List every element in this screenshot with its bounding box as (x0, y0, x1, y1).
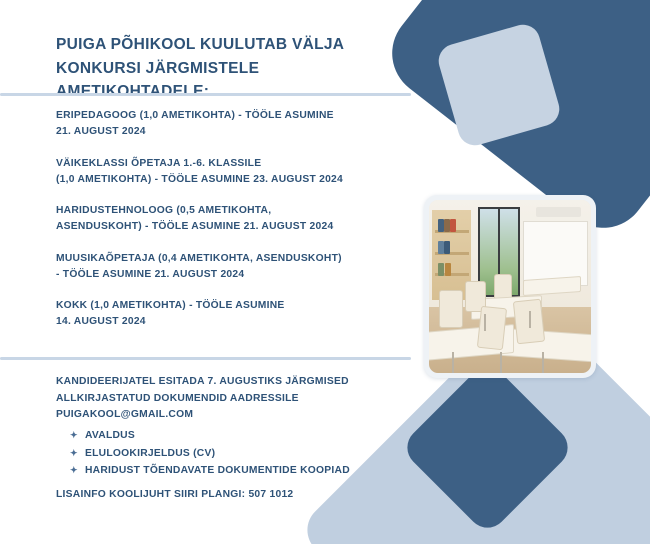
job-line-1: KOKK (1,0 AMETIKOHTA) - TÖÖLE ASUMINE (56, 298, 406, 314)
apply-line-2: ALLKIRJASTATUD DOKUMENDID AADRESSILE (56, 391, 416, 408)
list-item-label: ELULOOKIRJELDUS (CV) (85, 448, 215, 459)
list-item: ✦ ELULOOKIRJELDUS (CV) (70, 445, 416, 463)
job-line-2: (1,0 AMETIKOHTA) - TÖÖLE ASUMINE 23. AUG… (56, 172, 406, 188)
list-item-label: HARIDUST TÕENDAVATE DOKUMENTIDE KOOPIAD (85, 465, 350, 476)
job-line-2: ASENDUSKOHT) - TÖÖLE ASUMINE 21. AUGUST … (56, 219, 406, 235)
job-line-2: 14. AUGUST 2024 (56, 314, 406, 330)
classroom-photo (429, 200, 591, 373)
list-item: ✦ HARIDUST TÕENDAVATE DOKUMENTIDE KOOPIA… (70, 462, 416, 480)
application-instructions: KANDIDEERIJATEL ESITADA 7. AUGUSTIKS JÄR… (56, 374, 416, 480)
job-list: ERIPEDAGOOG (1,0 AMETIKOHTA) - TÖÖLE ASU… (56, 108, 406, 331)
job-item-muusikaopetaja: MUUSIKAÕPETAJA (0,4 AMETIKOHTA, ASENDUSK… (56, 251, 406, 284)
job-line-1: MUUSIKAÕPETAJA (0,4 AMETIKOHTA, ASENDUSK… (56, 251, 406, 267)
divider-bottom (0, 357, 411, 360)
job-item-vaikeklassi-opetaja: VÄIKEKLASSI ÕPETAJA 1.-6. KLASSILE (1,0 … (56, 156, 406, 189)
title-line-2: KONKURSI JÄRGMISTELE AMETIKOHTADELE: (56, 57, 406, 104)
bullet-icon: ✦ (70, 445, 78, 462)
job-item-eripedagoog: ERIPEDAGOOG (1,0 AMETIKOHTA) - TÖÖLE ASU… (56, 108, 406, 141)
job-line-1: VÄIKEKLASSI ÕPETAJA 1.-6. KLASSILE (56, 156, 406, 172)
job-line-1: ERIPEDAGOOG (1,0 AMETIKOHTA) - TÖÖLE ASU… (56, 108, 406, 124)
photo-chair (477, 306, 507, 350)
decorative-light-square-top-right (435, 21, 564, 150)
title-line-1: PUIGA PÕHIKOOL KUULUTAB VÄLJA (56, 33, 406, 57)
list-item: ✦ AVALDUS (70, 427, 416, 445)
job-line-1: HARIDUSTEHNOLOOG (0,5 AMETIKOHTA, (56, 203, 406, 219)
job-line-2: - TÖÖLE ASUMINE 21. AUGUST 2024 (56, 267, 406, 283)
list-item-label: AVALDUS (85, 430, 135, 441)
decorative-dark-diamond (399, 359, 576, 536)
bullet-icon: ✦ (70, 462, 78, 479)
poster-content: PUIGA PÕHIKOOL KUULUTAB VÄLJA KONKURSI J… (0, 0, 420, 544)
required-documents-list: ✦ AVALDUS ✦ ELULOOKIRJELDUS (CV) ✦ HARID… (56, 427, 416, 480)
contact-info: LISAINFO KOOLIJUHT SIIRI PLANGI: 507 101… (56, 489, 416, 500)
job-item-kokk: KOKK (1,0 AMETIKOHTA) - TÖÖLE ASUMINE 14… (56, 298, 406, 331)
classroom-photo-frame (424, 195, 596, 378)
apply-email[interactable]: PUIGAKOOL@GMAIL.COM (56, 407, 416, 424)
apply-line-1: KANDIDEERIJATEL ESITADA 7. AUGUSTIKS JÄR… (56, 374, 416, 391)
bullet-icon: ✦ (70, 427, 78, 444)
job-line-2: 21. AUGUST 2024 (56, 124, 406, 140)
job-item-haridustehnoloog: HARIDUSTEHNOLOOG (0,5 AMETIKOHTA, ASENDU… (56, 203, 406, 236)
job-posting-poster: PUIGA PÕHIKOOL KUULUTAB VÄLJA KONKURSI J… (0, 0, 650, 544)
photo-projector (536, 207, 581, 217)
divider-top (0, 93, 411, 96)
photo-chair (439, 290, 463, 328)
